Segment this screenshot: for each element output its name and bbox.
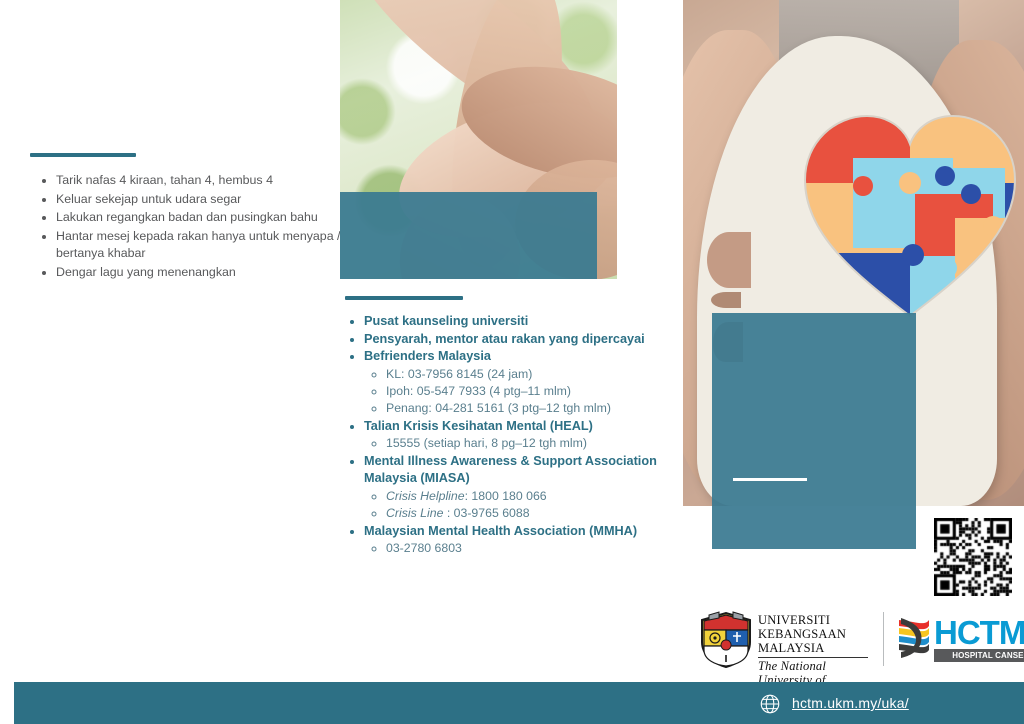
ukm-line1: UNIVERSITI [758,613,868,627]
resource-item: Pusat kaunseling universiti [364,313,694,331]
list-item: Tarik nafas 4 kiraan, tahan 4, hembus 4 [56,172,348,190]
resource-sublist: 03-2780 6803 [364,540,694,557]
resource-sublist: Crisis Helpline: 1800 180 066Crisis Line… [364,488,694,523]
resource-item: Pensyarah, mentor atau rakan yang diperc… [364,331,694,349]
puzzle-heart-icon [795,98,1024,328]
resource-subitem: Crisis Helpline: 1800 180 066 [386,488,694,505]
perlukan-sokongan-banner [340,192,597,279]
resource-item: Malaysian Mental Health Association (MMH… [364,523,694,558]
resource-label: Talian Krisis Kesihatan Mental (HEAL) [364,419,593,433]
resource-item: Mental Illness Awareness & Support Assoc… [364,453,694,523]
resource-subitem-value: : 03-9765 6088 [443,506,529,520]
list-item: Keluar sekejap untuk udara segar [56,191,348,209]
hctm-wordmark: HCTM [934,614,1024,652]
resource-label: Mental Illness Awareness & Support Assoc… [364,454,657,486]
resource-label: Pusat kaunseling universiti [364,314,528,328]
resource-subitem: 15555 (setiap hari, 8 pg–12 tgh mlm) [386,435,694,452]
brochure-page: Tarik nafas 4 kiraan, tahan 4, hembus 4K… [0,0,1024,724]
resource-label: Malaysian Mental Health Association (MMH… [364,524,637,538]
ukm-line2: KEBANGSAAN [758,627,868,641]
ukm-line3: MALAYSIA [758,641,868,655]
resource-item: Talian Krisis Kesihatan Mental (HEAL)155… [364,418,694,453]
list-item: Dengar lagu yang menenangkan [56,264,348,282]
logo-row: UNIVERSITI KEBANGSAAN MALAYSIA The Natio… [683,602,1024,676]
resource-sublist: KL: 03-7956 8145 (24 jam)Ipoh: 05-547 79… [364,366,694,418]
hctm-logo: HCTM HOSPITAL CANSELOR TUANKU MUHRIZ [895,616,1024,664]
left-divider [30,153,136,157]
resource-subitem-value: : 1800 180 066 [465,489,547,503]
resource-subitem: 03-2780 6803 [386,540,694,557]
list-item: Hantar mesej kepada rakan hanya untuk me… [56,228,348,263]
jaga-diri-banner [712,313,916,549]
resource-subitem: KL: 03-7956 8145 (24 jam) [386,366,694,383]
qr-code[interactable] [934,518,1012,596]
cover-divider [733,478,807,481]
hctm-tagline: HOSPITAL CANSELOR TUANKU MUHRIZ [934,649,1024,675]
globe-icon [760,694,780,714]
resource-subitem-label: Crisis Helpline [386,489,465,503]
support-resources-list: Pusat kaunseling universitiPensyarah, me… [340,313,694,558]
middle-panel: Pusat kaunseling universitiPensyarah, me… [340,0,682,724]
footer-url-link[interactable]: hctm.ukm.my/uka/ [792,695,909,711]
resource-subitem: Ipoh: 05-547 7933 (4 ptg–11 mlm) [386,383,694,400]
left-panel: Tarik nafas 4 kiraan, tahan 4, hembus 4K… [0,0,340,724]
resource-label: Pensyarah, mentor atau rakan yang diperc… [364,332,645,346]
ukm-crest-icon [699,610,753,668]
quick-tips-list: Tarik nafas 4 kiraan, tahan 4, hembus 4K… [34,172,348,283]
hctm-dna-icon [895,616,933,662]
resource-item: Befrienders MalaysiaKL: 03-7956 8145 (24… [364,348,694,418]
list-item: Lakukan regangkan badan dan pusingkan ba… [56,209,348,227]
resource-sublist: 15555 (setiap hari, 8 pg–12 tgh mlm) [364,435,694,452]
resource-subitem: Penang: 04-281 5161 (3 ptg–12 tgh mlm) [386,400,694,417]
resource-label: Befrienders Malaysia [364,349,491,363]
resource-subitem-label: Crisis Line [386,506,443,520]
hctm-tagline-bar: HOSPITAL CANSELOR TUANKU MUHRIZ [934,649,1024,662]
middle-divider [345,296,463,300]
logo-separator [883,612,884,666]
resource-subitem: Crisis Line : 03-9765 6088 [386,505,694,522]
